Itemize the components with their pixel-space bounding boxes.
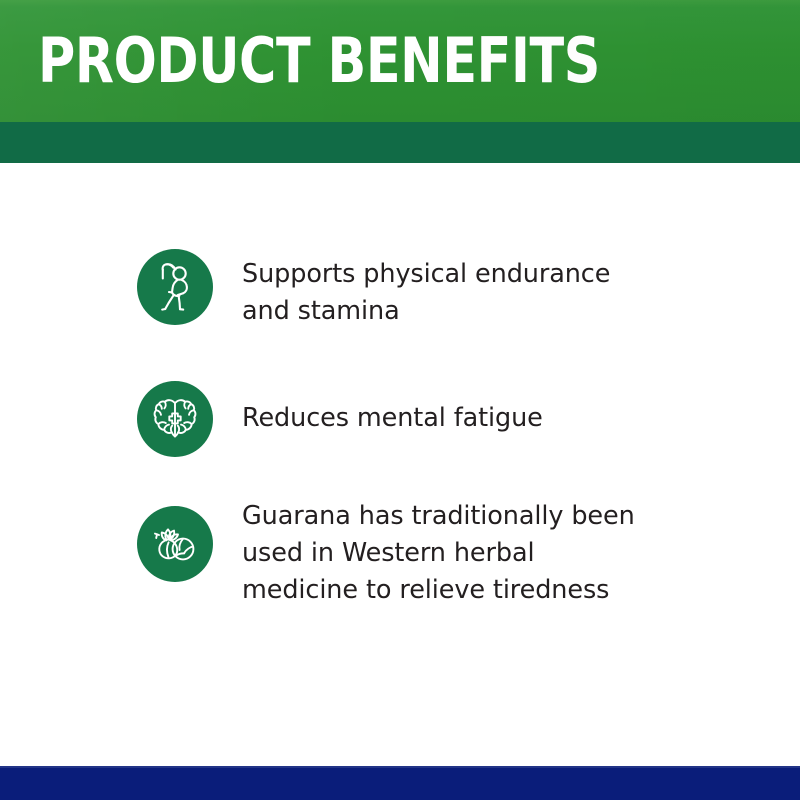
benefits-list: Supports physical endurance and stamina — [0, 163, 800, 766]
benefit-item-label: Reduces mental fatigue — [242, 400, 642, 437]
page-title: PRODUCT BENEFITS — [38, 30, 600, 92]
exercising-person-icon — [137, 249, 213, 325]
footer-band — [0, 766, 800, 800]
benefit-item-guarana: Guarana has traditionally been used in W… — [137, 506, 697, 609]
guarana-berries-icon — [137, 506, 213, 582]
header-band: PRODUCT BENEFITS — [0, 0, 800, 122]
product-benefits-panel: PRODUCT BENEFITS — [0, 0, 800, 800]
benefit-item-label: Guarana has traditionally been used in W… — [242, 498, 642, 609]
benefit-item-endurance: Supports physical endurance and stamina — [137, 249, 697, 330]
benefit-item-label: Supports physical endurance and stamina — [242, 256, 642, 330]
header-accent-band — [0, 122, 800, 163]
brain-icon — [137, 381, 213, 457]
benefit-item-mental-fatigue: Reduces mental fatigue — [137, 381, 697, 457]
